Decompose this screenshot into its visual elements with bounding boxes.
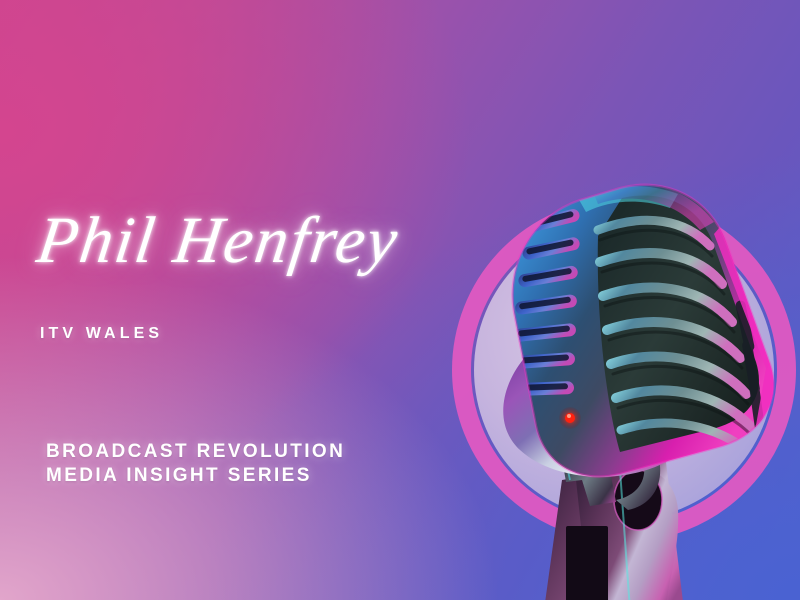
text-block: Phil Henfrey ITV WALES BROADCAST REVOLUT… <box>38 0 468 600</box>
speaker-card: Phil Henfrey ITV WALES BROADCAST REVOLUT… <box>0 0 800 600</box>
circle-disc-decoration <box>474 220 774 520</box>
series-block: BROADCAST REVOLUTION MEDIA INSIGHT SERIE… <box>46 440 345 489</box>
speaker-name: Phil Henfrey <box>33 206 403 275</box>
series-line-1: BROADCAST REVOLUTION <box>46 440 345 464</box>
speaker-organization: ITV WALES <box>40 325 163 343</box>
series-line-2: MEDIA INSIGHT SERIES <box>46 464 345 488</box>
